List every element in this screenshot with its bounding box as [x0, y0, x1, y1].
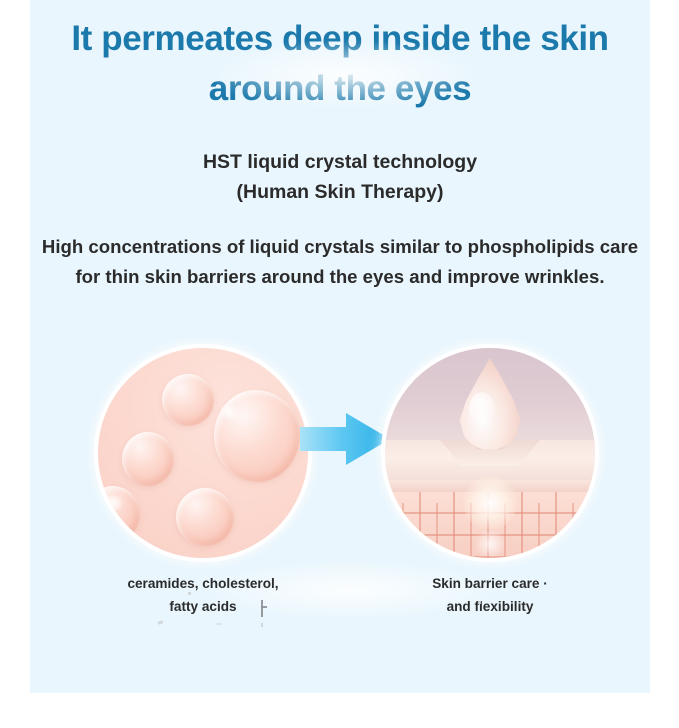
scan-artifact-dot-5	[478, 601, 481, 604]
absorbed-glow-deep	[473, 530, 507, 558]
scan-artifact-dot-3	[261, 623, 263, 627]
absorbed-glow	[463, 476, 517, 530]
scan-artifact-dot-4	[216, 623, 222, 625]
droplet-highlight-2	[102, 496, 126, 510]
caption-ingredients: ceramides, cholesterol, fatty acids	[78, 572, 328, 619]
droplet-left	[122, 432, 174, 486]
scan-artifact-dot-2	[158, 620, 164, 625]
content-panel: It permeates deep inside the skin around…	[30, 0, 650, 693]
page-title: It permeates deep inside the skin around…	[30, 14, 650, 113]
skin-absorption-image	[385, 348, 595, 558]
scan-artifact-tick	[261, 600, 263, 617]
description-paragraph: High concentrations of liquid crystals s…	[30, 232, 650, 292]
right-arrow-icon	[300, 413, 390, 465]
liquid-crystal-droplets-image	[98, 348, 308, 558]
scan-artifact-dot	[188, 592, 191, 595]
droplet-bottom	[176, 488, 234, 546]
droplet-top	[162, 374, 214, 426]
droplet-gloss	[469, 392, 495, 426]
caption-benefit: Skin barrier care · and flexibility	[370, 572, 610, 619]
droplet-bottom-left	[98, 486, 140, 542]
promo-infographic: It permeates deep inside the skin around…	[0, 0, 679, 728]
technology-subheading: HST liquid crystal technology (Human Ski…	[30, 148, 650, 207]
scan-artifact-tick-2	[261, 606, 267, 608]
droplet-highlight	[218, 404, 240, 420]
